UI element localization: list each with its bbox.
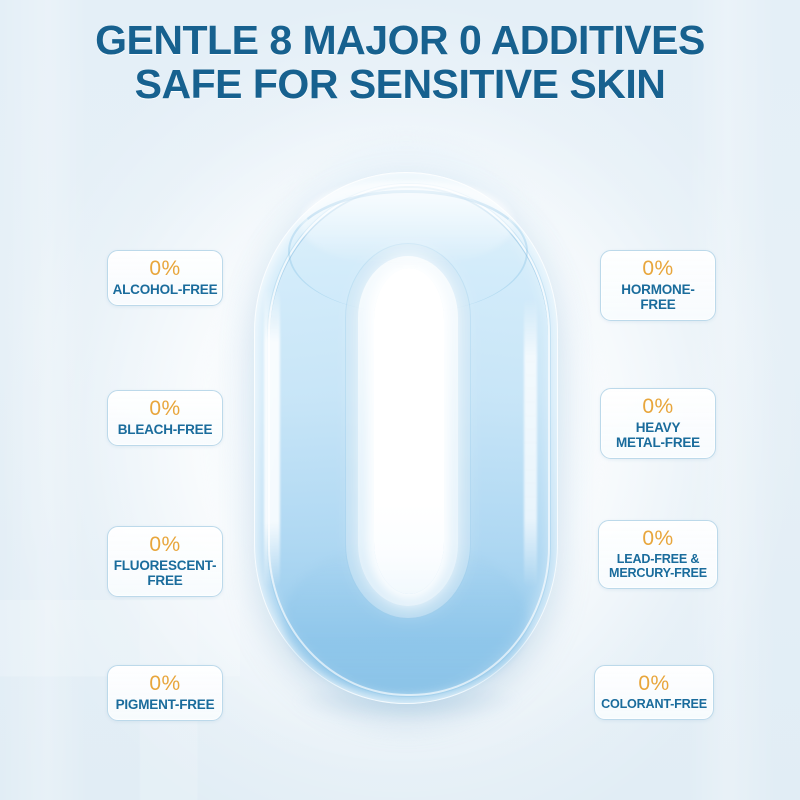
badge-label: FLUORESCENT- FREE — [112, 558, 218, 588]
zero-left-highlight — [264, 288, 280, 588]
zero-top-sheen — [300, 180, 514, 266]
badge-label: PIGMENT-FREE — [112, 697, 218, 712]
badge-hormone-free: 0% HORMONE-FREE — [600, 250, 716, 321]
zero-counter-hole — [374, 268, 444, 594]
badge-percent: 0% — [112, 398, 218, 419]
badge-percent: 0% — [603, 528, 713, 549]
headline-line-1: GENTLE 8 MAJOR 0 ADDITIVES — [0, 18, 800, 62]
badge-pigment-free: 0% PIGMENT-FREE — [107, 665, 223, 721]
badge-percent: 0% — [599, 673, 709, 694]
badge-percent: 0% — [605, 258, 711, 279]
badge-label: HEAVY METAL-FREE — [605, 420, 711, 450]
badge-lead-mercury-free: 0% LEAD-FREE & MERCURY-FREE — [598, 520, 718, 589]
badge-fluorescent-free: 0% FLUORESCENT- FREE — [107, 526, 223, 597]
badge-percent: 0% — [112, 258, 218, 279]
badge-colorant-free: 0% COLORANT-FREE — [594, 665, 714, 720]
zero-right-highlight — [524, 298, 537, 588]
page-title: GENTLE 8 MAJOR 0 ADDITIVES SAFE FOR SENS… — [0, 18, 800, 107]
headline-line-2: SAFE FOR SENSITIVE SKIN — [0, 62, 800, 106]
badge-label: HORMONE-FREE — [605, 282, 711, 312]
badge-label: BLEACH-FREE — [112, 422, 218, 437]
badge-percent: 0% — [112, 534, 218, 555]
badge-label: ALCOHOL-FREE — [112, 282, 218, 297]
badge-percent: 0% — [605, 396, 711, 417]
poster-canvas: GENTLE 8 MAJOR 0 ADDITIVES SAFE FOR SENS… — [0, 0, 800, 800]
badge-label: LEAD-FREE & MERCURY-FREE — [603, 552, 713, 580]
badge-label: COLORANT-FREE — [599, 697, 709, 711]
badge-percent: 0% — [112, 673, 218, 694]
badge-alcohol-free: 0% ALCOHOL-FREE — [107, 250, 223, 306]
badge-heavy-metal-free: 0% HEAVY METAL-FREE — [600, 388, 716, 459]
zero-graphic — [248, 168, 564, 708]
badge-bleach-free: 0% BLEACH-FREE — [107, 390, 223, 446]
